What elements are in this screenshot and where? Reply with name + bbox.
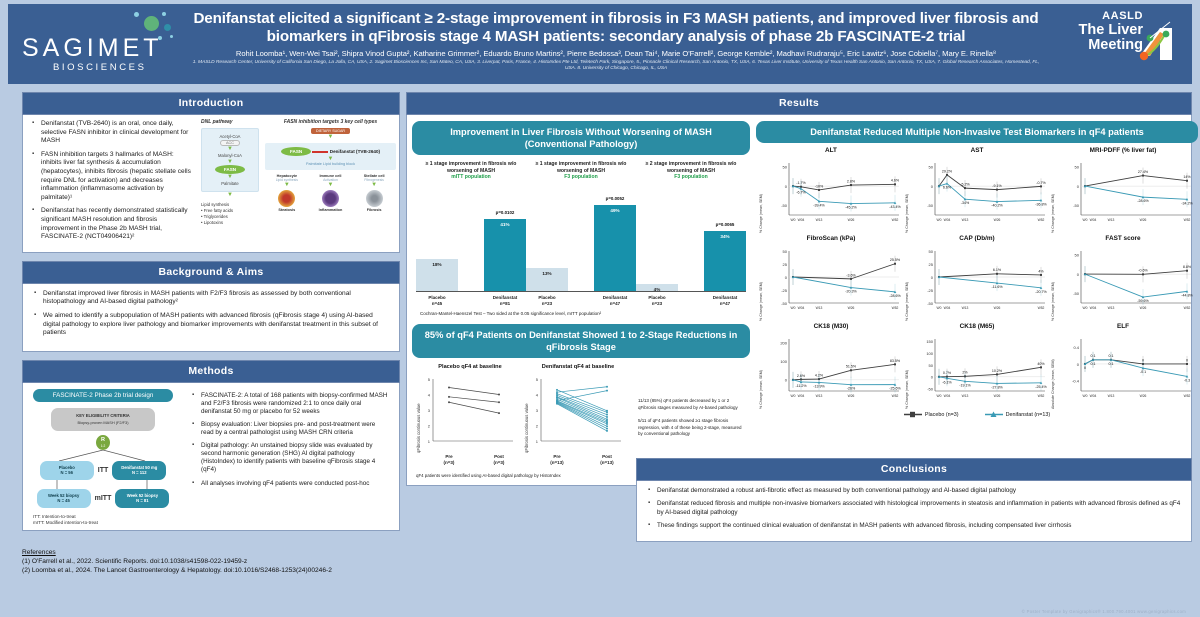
bar-group-header: ≥ 2 stage improvement in fibrosis w/o wo… [636, 161, 746, 181]
svg-text:2.6%: 2.6% [797, 374, 806, 378]
references-heading: References [22, 548, 722, 557]
svg-text:W13: W13 [962, 306, 969, 310]
list-item: Denifanstat improved liver fibrosis in M… [43, 290, 391, 307]
dnl-node-acetyl: Acetyl-CoA [204, 134, 256, 139]
svg-text:-50: -50 [1073, 291, 1080, 296]
cell-immune: Immune cell Activation ▼ Inflammation [315, 174, 345, 212]
spaghetti-placebo-ylabel: qFibrosis continuous value [416, 375, 421, 453]
svg-text:0: 0 [785, 378, 788, 383]
section-header-methods: Methods [22, 360, 400, 383]
arm-placebo-week52: Week 52 biopsyN = 45 [37, 489, 91, 508]
svg-text:2.8%: 2.8% [847, 179, 856, 183]
svg-text:W0: W0 [937, 218, 942, 222]
svg-text:0: 0 [785, 184, 788, 189]
bar-xlabel: Denifanstatn=81 [484, 295, 526, 307]
svg-text:-34.2%: -34.2% [1181, 201, 1193, 205]
nit-ylabel: % Change (mean, SEM) [905, 243, 909, 321]
svg-text:-25.4%: -25.4% [1035, 385, 1047, 389]
svg-text:-1.7%: -1.7% [796, 181, 806, 185]
cell-types-diagram: FASN inhibition targets 3 key cell types… [265, 119, 396, 226]
svg-text:-0.4: -0.4 [1072, 378, 1080, 383]
svg-text:3: 3 [428, 408, 431, 413]
svg-text:W13: W13 [1108, 394, 1115, 398]
inhibition-bar-icon [312, 151, 328, 153]
svg-text:0.4: 0.4 [1073, 345, 1079, 350]
bar-chart-footnote: Cochran-Mantel-Haenszel Test – Two sided… [420, 311, 746, 316]
inflammation-cell-icon [322, 190, 339, 207]
list-item: These findings support the continued cli… [657, 522, 1183, 530]
svg-text:0: 0 [1077, 184, 1080, 189]
svg-text:-0.7%: -0.7% [1036, 181, 1046, 185]
nit-chart-ck18-m65: CK18 (M65)% Change (mean, SEM)-500501001… [905, 323, 1049, 409]
svg-text:-0.1: -0.1 [1140, 370, 1146, 374]
svg-text:0: 0 [1077, 272, 1080, 277]
panel-title-nit-biomarkers: Denifanstat Reduced Multiple Non-Invasiv… [756, 121, 1198, 143]
svg-text:-50: -50 [927, 386, 934, 391]
svg-text:W04: W04 [1090, 218, 1097, 222]
svg-text:W26: W26 [848, 394, 855, 398]
dnl-pathway-diagram: DNL pathway Acetyl-CoA ACC ▼ Malonyl-CoA… [201, 119, 259, 226]
affiliation-list: 1. MASLD Research Center, University of … [191, 60, 1041, 72]
fasn-node: FASN [281, 147, 311, 156]
svg-text:50: 50 [1075, 253, 1080, 258]
itt-label: ITT [98, 467, 109, 474]
bar-placebo: 4% [636, 284, 678, 291]
mitt-label: mITT [95, 495, 112, 502]
svg-text:29.2%: 29.2% [942, 169, 953, 173]
svg-text:W13: W13 [1108, 306, 1115, 310]
svg-text:W52: W52 [1038, 218, 1045, 222]
svg-text:5: 5 [428, 377, 431, 382]
svg-text:W0: W0 [1083, 306, 1088, 310]
svg-text:-50: -50 [781, 203, 788, 208]
aasld-logo: AASLD The Liver Meeting [1047, 4, 1192, 84]
nit-chart-title: FibroScan (kPa) [759, 235, 903, 242]
svg-text:W26: W26 [994, 394, 1001, 398]
svg-text:0: 0 [785, 275, 788, 280]
dnl-node-palmitate: Palmitate [204, 181, 256, 186]
svg-text:-20.7%: -20.7% [1035, 290, 1047, 294]
denifanstat-callout: Denifanstat (TVB-2640) [330, 149, 380, 154]
svg-text:W04: W04 [944, 218, 951, 222]
svg-text:W13: W13 [1108, 218, 1115, 222]
spaghetti-placebo-plot: 12345 [421, 375, 519, 453]
annotation-qf4-decrease: 11/13 (85%) qF4 patients decreased by 1 … [638, 398, 746, 411]
svg-text:W04: W04 [798, 218, 805, 222]
results-left-column: Improvement in Liver Fibrosis Without Wo… [412, 121, 750, 480]
svg-text:-40.2%: -40.2% [991, 204, 1003, 208]
svg-text:2: 2 [428, 424, 431, 429]
svg-text:-27.8%: -27.8% [991, 385, 1003, 389]
svg-text:W04: W04 [1090, 306, 1097, 310]
steatosis-cell-icon [278, 190, 295, 207]
svg-text:W0: W0 [1083, 218, 1088, 222]
svg-text:25.5%: 25.5% [890, 258, 901, 262]
svg-text:4.6%: 4.6% [891, 179, 900, 183]
bar-group-xlabels: Placebon=45Denifanstatn=81 [416, 295, 526, 307]
svg-text:-44.8%: -44.8% [1181, 293, 1193, 297]
svg-text:-20.3%: -20.3% [845, 290, 857, 294]
conclusions-section: Conclusions Denifanstat demonstrated a r… [636, 458, 1192, 542]
mechanism-figure: DNL pathway Acetyl-CoA ACC ▼ Malonyl-CoA… [198, 115, 399, 252]
svg-text:-28.6%: -28.6% [1137, 199, 1149, 203]
svg-text:100: 100 [780, 359, 787, 364]
nit-chart-title: FAST score [1051, 235, 1195, 242]
annotation-conventional-path: 5/11 of qF4 patients showed ≥1 stage fib… [638, 418, 746, 437]
section-header-conclusions: Conclusions [636, 458, 1192, 481]
bar-value-label: 13% [526, 271, 568, 276]
spaghetti-xlabel: Post(n=13) [600, 454, 613, 465]
nit-ylabel: Absolute Change (mean, SEM) [1051, 331, 1055, 409]
references-section: References (1) O'Farrell et al., 2022. S… [22, 548, 722, 576]
author-list: Rohit Loomba¹, Wen-Wei Tsai², Shipra Vin… [191, 49, 1041, 58]
svg-text:W26: W26 [994, 218, 1001, 222]
results-right-column: Denifanstat Reduced Multiple Non-Invasiv… [756, 121, 1198, 480]
svg-text:1: 1 [428, 439, 431, 444]
svg-text:0: 0 [1186, 358, 1188, 362]
svg-text:51.5%: 51.5% [846, 365, 857, 369]
bar-value-label: 18% [416, 262, 458, 267]
svg-text:100: 100 [926, 351, 933, 356]
randomization-node: R 1:2 [96, 435, 110, 450]
bar-denifanstat: p=0.010241% [484, 219, 526, 291]
svg-text:50: 50 [929, 249, 934, 254]
nit-chart-title: CK18 (M65) [905, 323, 1049, 330]
svg-text:50: 50 [929, 363, 934, 368]
dnl-node-malonyl: Malonyl-CoA [204, 153, 256, 158]
nit-chart-elf: ELFAbsolute Change (mean, SEM)-0.400.40.… [1051, 323, 1195, 409]
list-item: Denifanstat demonstrated a robust anti-f… [657, 487, 1183, 495]
nit-chart-title: CAP (Db/m) [905, 235, 1049, 242]
svg-text:2: 2 [536, 424, 539, 429]
svg-text:W13: W13 [816, 306, 823, 310]
svg-text:-43.4%: -43.4% [889, 205, 901, 209]
arm-placebo: PlaceboN = 56 [40, 461, 94, 480]
svg-text:-5.2%: -5.2% [960, 183, 970, 187]
svg-text:W52: W52 [1184, 394, 1191, 398]
svg-text:-0.3: -0.3 [1184, 378, 1190, 382]
dnl-output-item: • Lipotoxins [201, 220, 259, 226]
aasld-mark-icon [1130, 20, 1178, 68]
nit-ylabel: % Change (mean, SEM) [759, 243, 763, 321]
svg-text:-3.6%: -3.6% [846, 273, 856, 277]
svg-text:50: 50 [783, 249, 788, 254]
nit-chart-title: ELF [1051, 323, 1195, 330]
svg-text:200: 200 [780, 341, 787, 346]
nit-plot: -50050-1.7%-10%2.8%4.6%-6.7%-39.4%-45.2%… [763, 155, 903, 233]
list-item: FASCINATE-2: A total of 168 patients wit… [201, 392, 389, 416]
svg-text:5: 5 [536, 377, 539, 382]
svg-text:0.1: 0.1 [1091, 362, 1096, 366]
svg-text:-11.2%: -11.2% [795, 384, 807, 388]
bar-unit: p=0.005249% [594, 186, 636, 291]
svg-text:W52: W52 [892, 218, 899, 222]
dnl-caption: DNL pathway [201, 119, 259, 125]
panel-title-qfibrosis: 85% of qF4 Patients on Denifanstat Showe… [412, 324, 750, 358]
bar-pvalue: p=0.0102 [484, 210, 526, 215]
legend-item-denifanstat: Denifanstat (n=13) [985, 411, 1051, 418]
svg-text:83.5%: 83.5% [890, 359, 901, 363]
conclusions-body: Denifanstat demonstrated a robust anti-f… [636, 481, 1192, 542]
svg-text:0: 0 [1077, 362, 1080, 367]
nit-chart-title: AST [905, 147, 1049, 154]
svg-text:-25: -25 [781, 288, 788, 293]
nit-plot: -50050-0.6%8.8%-59.6%-44.8%W0W04W13W26W5… [1055, 243, 1195, 321]
svg-text:-36.8%: -36.8% [1035, 202, 1047, 206]
svg-text:W0: W0 [791, 218, 796, 222]
svg-text:2%: 2% [962, 371, 968, 375]
svg-text:50: 50 [783, 165, 788, 170]
list-item: All analyses involving qF4 patients were… [201, 480, 389, 488]
methods-body: FASCINATE-2 Phase 2b trial design KEY EL… [22, 383, 400, 531]
panel-title-fibrosis-improvement: Improvement in Liver Fibrosis Without Wo… [412, 121, 750, 155]
svg-text:W13: W13 [816, 394, 823, 398]
bar-placebo: 18% [416, 259, 458, 291]
svg-text:-11.6%: -11.6% [991, 285, 1003, 289]
poster-canvas: SAGIMET BIOSCIENCES Denifanstat elicited… [0, 0, 1200, 617]
svg-text:10.2%: 10.2% [992, 369, 1003, 373]
nit-plot: -50-2502550-3.6%25.5%-20.3%-28.6%W0W04W1… [763, 243, 903, 321]
spaghetti-placebo-title: Placebo qF4 at baseline [416, 364, 524, 371]
nit-plot: -0.400.40.10.10000.10.1-0.1-0.3W0W04W13W… [1055, 331, 1195, 409]
abbreviations: ITT: Intention-to-treat mITT: Modified i… [33, 514, 179, 527]
svg-text:W13: W13 [962, 218, 969, 222]
spaghetti-xlabel: Pre(n=13) [550, 454, 563, 465]
arm-denifanstat: Denifanstat 50 mgN = 112 [112, 461, 166, 480]
nit-chart-ck18-m30: CK18 (M30)% Change (mean, SEM)01002002.6… [759, 323, 903, 409]
svg-text:25: 25 [929, 262, 934, 267]
nit-ylabel: % Change (mean, SEM) [905, 155, 909, 233]
bar-group: 4%p=0.006534% [636, 186, 746, 292]
svg-text:W52: W52 [1184, 218, 1191, 222]
svg-text:-26%: -26% [847, 387, 856, 391]
bar-group-xlabels: Placebon=23Denifanstatn=47 [526, 295, 636, 307]
introduction-text: Denifanstat (TVB-2640) is an oral, once … [23, 115, 198, 252]
sagimet-subtitle: BIOSCIENCES [53, 62, 147, 73]
nit-chart-ast: AST% Change (mean, SEM)-5005029.2%-5.2%-… [905, 147, 1049, 233]
spaghetti-annotations: 11/13 (85%) qF4 patients decreased by 1 … [632, 364, 746, 465]
bar-pvalue: p=0.0065 [704, 222, 746, 227]
legend-item-placebo: Placebo (n=3) [904, 411, 959, 418]
bar-placebo: 13% [526, 268, 568, 291]
svg-text:4: 4 [428, 393, 431, 398]
svg-text:0: 0 [931, 375, 934, 380]
bar-unit: 18% [416, 186, 458, 291]
svg-text:-50: -50 [781, 301, 788, 306]
bar-value-label: 34% [704, 234, 746, 239]
bar-group-header: ≥ 1 stage improvement in fibrosis w/o wo… [416, 161, 526, 181]
section-header-introduction: Introduction [22, 92, 400, 115]
svg-text:0: 0 [931, 275, 934, 280]
nit-legend: Placebo (n=3) Denifanstat (n=13) [756, 409, 1198, 422]
bar-group: 18%p=0.010241% [416, 186, 526, 292]
svg-text:4: 4 [536, 393, 539, 398]
nit-ylabel: % Change (mean, SEM) [1051, 243, 1055, 321]
cells-caption: FASN inhibition targets 3 key cell types [265, 119, 396, 125]
methods-text: FASCINATE-2: A total of 168 patients wit… [179, 387, 395, 527]
bar-xlabel: Denifanstatn=47 [594, 295, 636, 307]
spaghetti-denifanstat: Denifanstat qF4 at baseline qFibrosis co… [524, 364, 632, 465]
svg-text:-13.9%: -13.9% [813, 384, 825, 388]
svg-text:W52: W52 [892, 306, 899, 310]
bar-group: 13%p=0.005249% [526, 186, 636, 292]
bar-value-label: 41% [484, 222, 526, 227]
nit-chart-title: CK18 (M30) [759, 323, 903, 330]
svg-text:6.6%: 6.6% [943, 186, 952, 190]
svg-text:-25: -25 [927, 288, 934, 293]
cell-stellate: Stellate cell Fibrogenesis ▼ Fibrosis [359, 174, 389, 212]
arm-denifanstat-week52: Week 52 biopsyN = 81 [115, 489, 169, 508]
bar-unit: 4% [636, 186, 678, 291]
bar-group-header: ≥ 1 stage improvement in fibrosis w/o wo… [526, 161, 636, 181]
svg-text:W04: W04 [798, 306, 805, 310]
svg-text:W26: W26 [1140, 306, 1147, 310]
spaghetti-denifanstat-title: Denifanstat qF4 at baseline [524, 364, 632, 371]
svg-text:-6.7%: -6.7% [796, 191, 806, 195]
svg-text:-34%: -34% [961, 201, 970, 205]
list-item: Denifanstat reduced fibrosis and multipl… [657, 500, 1183, 517]
svg-text:-50: -50 [927, 203, 934, 208]
sagimet-wordmark: SAGIMET [22, 34, 163, 63]
list-item: We aimed to identify a subpopulation of … [43, 312, 391, 338]
svg-text:-45.2%: -45.2% [845, 206, 857, 210]
svg-text:W26: W26 [994, 306, 1001, 310]
reference-item: (1) O'Farrell et al., 2022. Scientific R… [22, 557, 722, 566]
svg-text:W04: W04 [1090, 394, 1097, 398]
svg-text:0: 0 [1084, 366, 1086, 370]
bar-denifanstat: p=0.005249% [594, 205, 636, 291]
nit-plot: -500501001500.7%2%10.2%40%-6.1%-19.1%-27… [909, 331, 1049, 409]
nit-ylabel: % Change (mean, SEM) [759, 331, 763, 409]
svg-text:-50: -50 [1073, 203, 1080, 208]
svg-text:W52: W52 [1038, 306, 1045, 310]
nit-plot: -5005027.4%14%-28.6%-34.2%W0W04W13W26W52 [1055, 155, 1195, 233]
trial-design-title: FASCINATE-2 Phase 2b trial design [33, 389, 173, 402]
list-item: Denifanstat has recently demonstrated st… [41, 207, 192, 241]
svg-text:W0: W0 [1083, 394, 1088, 398]
spaghetti-charts: Placebo qF4 at baseline qFibrosis contin… [412, 358, 750, 468]
bar-value-label: 4% [636, 287, 678, 292]
nit-chart-alt: ALT% Change (mean, SEM)-50050-1.7%-10%2.… [759, 147, 903, 233]
nit-chart-fast-score: FAST score% Change (mean, SEM)-50050-0.6… [1051, 235, 1195, 321]
trial-design-diagram: FASCINATE-2 Phase 2b trial design KEY EL… [27, 387, 179, 527]
section-header-results: Results [406, 92, 1192, 115]
sagimet-logo: SAGIMET BIOSCIENCES [8, 4, 183, 84]
eligibility-box: KEY ELIGIBILITY CRITERIA Biopsy-proven M… [51, 408, 155, 431]
spaghetti-denifanstat-plot: 12345 [529, 375, 627, 453]
bar-chart-fibrosis: ≥ 1 stage improvement in fibrosis w/o wo… [412, 155, 750, 320]
spaghetti-xlabel: Post(n=3) [494, 454, 505, 465]
svg-text:W52: W52 [892, 394, 899, 398]
svg-text:W52: W52 [1038, 394, 1045, 398]
nit-chart-title: ALT [759, 147, 903, 154]
svg-text:50: 50 [1075, 165, 1080, 170]
bar-xlabel: Denifanstatn=47 [704, 295, 746, 307]
svg-text:-25.6%: -25.6% [889, 387, 901, 391]
list-item: Denifanstat (TVB-2640) is an oral, once … [41, 120, 192, 146]
svg-text:W26: W26 [1140, 394, 1147, 398]
nit-ylabel: % Change (mean, SEM) [1051, 155, 1055, 233]
svg-text:-0.6%: -0.6% [1138, 269, 1148, 273]
poster-header: SAGIMET BIOSCIENCES Denifanstat elicited… [8, 4, 1192, 84]
svg-text:0.7%: 0.7% [943, 371, 952, 375]
fibrosis-cell-icon [366, 190, 383, 207]
svg-text:25: 25 [783, 262, 788, 267]
nit-chart-cap-db-m: CAP (Db/m)% Change (mean, SEM)-50-250255… [905, 235, 1049, 321]
results-section: Results Improvement in Liver Fibrosis Wi… [406, 92, 1192, 486]
introduction-body: Denifanstat (TVB-2640) is an oral, once … [22, 115, 400, 253]
bar-unit: p=0.010241% [484, 186, 526, 291]
svg-text:-59.6%: -59.6% [1137, 299, 1149, 303]
background-body: Denifanstat improved liver fibrosis in M… [22, 284, 400, 352]
svg-text:4.2%: 4.2% [815, 373, 824, 377]
nit-plot: -50-25025506.1%4%-11.6%-20.7%W0W04W13W26… [909, 243, 1049, 321]
bar-pvalue: p=0.0052 [594, 196, 636, 201]
svg-text:W04: W04 [944, 306, 951, 310]
nit-plot: 01002002.6%4.2%51.5%83.5%-11.2%-13.9%-26… [763, 331, 903, 409]
nit-chart-fibroscan-kpa: FibroScan (kPa)% Change (mean, SEM)-50-2… [759, 235, 903, 321]
svg-text:W26: W26 [1140, 218, 1147, 222]
list-item: FASN inhibition targets 3 hallmarks of M… [41, 151, 192, 203]
svg-text:W04: W04 [944, 394, 951, 398]
spaghetti-denifanstat-ylabel: qFibrosis continuous value [524, 375, 529, 453]
svg-text:-9.1%: -9.1% [992, 184, 1002, 188]
svg-text:6.1%: 6.1% [993, 268, 1002, 272]
svg-text:8.8%: 8.8% [1183, 265, 1192, 269]
svg-text:W26: W26 [848, 306, 855, 310]
bar-xlabel: Placebon=23 [636, 295, 678, 307]
svg-text:W0: W0 [791, 306, 796, 310]
svg-text:W52: W52 [1184, 306, 1191, 310]
svg-text:14%: 14% [1183, 175, 1191, 179]
list-item: Biopsy evaluation: Liver biopsies pre- a… [201, 421, 389, 437]
svg-text:150: 150 [926, 339, 933, 344]
svg-text:50: 50 [929, 165, 934, 170]
svg-text:W13: W13 [816, 218, 823, 222]
left-column: Introduction Denifanstat (TVB-2640) is a… [22, 92, 400, 531]
svg-text:-50: -50 [927, 301, 934, 306]
list-item: Digital pathology: An unstained biopsy s… [201, 442, 389, 474]
svg-text:W0: W0 [937, 306, 942, 310]
spaghetti-placebo: Placebo qF4 at baseline qFibrosis contin… [416, 364, 524, 465]
page-title: Denifanstat elicited a significant ≥ 2-s… [191, 10, 1041, 45]
nit-plot: -5005029.2%-5.2%-9.1%-0.7%6.6%-34%-40.2%… [909, 155, 1049, 233]
reference-item: (2) Loomba et al., 2024. The Lancet Gast… [22, 566, 722, 575]
svg-text:0.1: 0.1 [1109, 362, 1114, 366]
template-credit: © Poster Template by Genigraphics® 1.800… [1022, 609, 1186, 614]
svg-text:27.4%: 27.4% [1138, 170, 1149, 174]
nit-chart-mri-pdff-liver-fat: MRI-PDFF (% liver fat)% Change (mean, SE… [1051, 147, 1195, 233]
svg-text:-19.1%: -19.1% [959, 383, 971, 387]
bar-value-label: 49% [594, 208, 636, 213]
svg-text:-28.6%: -28.6% [889, 294, 901, 298]
cell-hepatocyte: Hepatocyte Lipid synthesis ▼ Steatosis [272, 174, 302, 212]
bar-xlabel: Placebon=45 [416, 295, 458, 307]
results-body: Improvement in Liver Fibrosis Without Wo… [406, 115, 1192, 486]
bar-xlabel: Placebon=23 [526, 295, 568, 307]
bar-denifanstat: p=0.006534% [704, 231, 746, 291]
bar-unit: 13% [526, 186, 568, 291]
dnl-node-fasn: FASN [215, 165, 245, 174]
nit-ylabel: % Change (mean, SEM) [759, 155, 763, 233]
svg-text:1: 1 [536, 439, 539, 444]
svg-text:0: 0 [931, 184, 934, 189]
svg-text:W13: W13 [962, 394, 969, 398]
svg-text:4%: 4% [1038, 269, 1044, 273]
bar-unit: p=0.006534% [704, 186, 746, 291]
nit-ylabel: % Change (mean, SEM) [905, 331, 909, 409]
section-header-background: Background & Aims [22, 261, 400, 284]
